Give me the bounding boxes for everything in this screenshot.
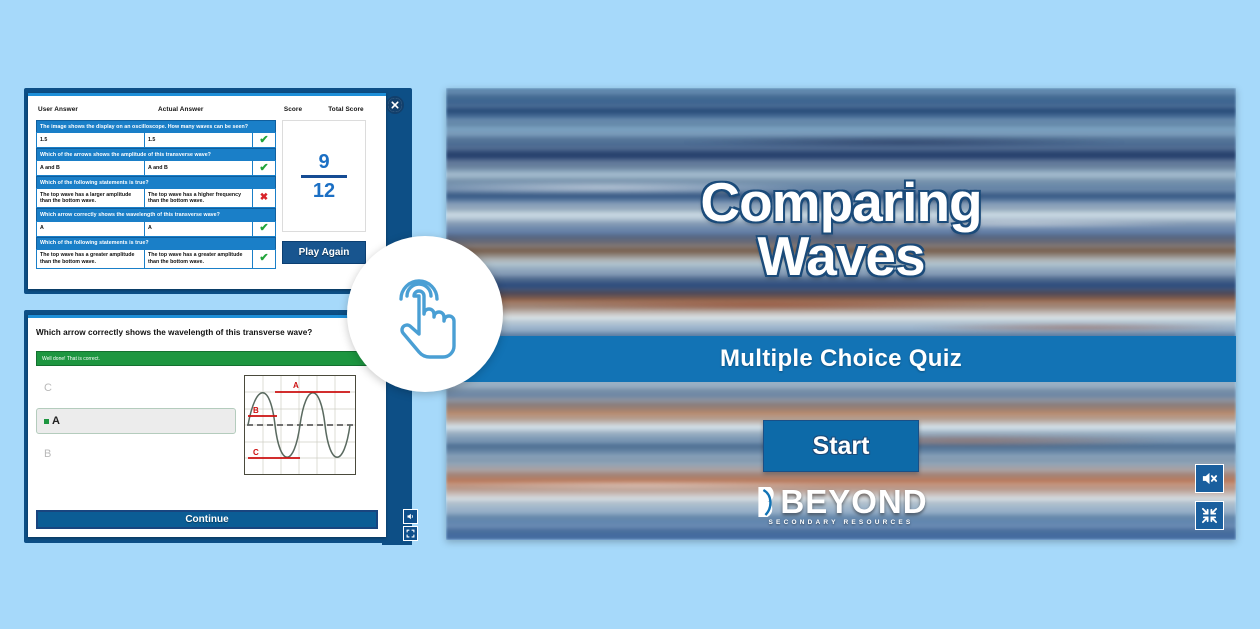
table-row: 1.51.5✔	[36, 132, 276, 148]
cell-actual-answer: The top wave has a greater amplitude tha…	[145, 250, 253, 268]
continue-button[interactable]: Continue	[36, 510, 378, 529]
cell-actual-answer: The top wave has a higher frequency than…	[145, 189, 253, 207]
play-again-button[interactable]: Play Again	[282, 241, 366, 264]
quiz-title-screen: Comparing Waves Multiple Choice Quiz Sta…	[446, 88, 1236, 540]
incorrect-mark-icon: ✖	[253, 189, 275, 207]
table-row: AA✔	[36, 221, 276, 237]
tap-hand-icon	[347, 236, 503, 392]
transverse-wave-diagram: A B C	[244, 375, 356, 475]
header-user-answer: User Answer	[36, 106, 158, 113]
svg-text:A: A	[293, 381, 299, 390]
results-question-row: Which of the following statements is tru…	[36, 176, 276, 188]
table-row: A and BA and B✔	[36, 160, 276, 176]
results-question-row: Which arrow correctly shows the waveleng…	[36, 208, 276, 220]
subtitle-bar: Multiple Choice Quiz	[446, 336, 1236, 382]
answer-option-b[interactable]: B	[36, 441, 236, 467]
quiz-panel-body: Which arrow correctly shows the waveleng…	[28, 315, 386, 537]
score-numerator: 9	[318, 152, 329, 172]
header-actual-answer: Actual Answer	[158, 106, 270, 113]
logo-name: BEYOND	[780, 483, 927, 521]
correct-mark-icon: ✔	[253, 133, 275, 147]
subtitle-text: Multiple Choice Quiz	[720, 345, 962, 373]
logo-tagline: SECONDARY RESOURCES	[769, 519, 914, 526]
expand-icon[interactable]	[403, 526, 418, 541]
cell-actual-answer: A and B	[145, 161, 253, 175]
header-total-score: Total Score	[316, 106, 376, 113]
fullscreen-collapse-icon[interactable]	[1195, 501, 1224, 530]
results-question-row: Which of the arrows shows the amplitude …	[36, 148, 276, 160]
table-row: The top wave has a larger amplitude than…	[36, 188, 276, 208]
score-divider	[301, 175, 347, 178]
title-line-2: Waves	[446, 230, 1236, 284]
speaker-icon[interactable]	[403, 509, 418, 524]
cell-user-answer: A	[37, 222, 145, 236]
answer-option-label: C	[44, 382, 52, 394]
quiz-panel-controls	[403, 509, 418, 541]
results-question-row: Which of the following statements is tru…	[36, 237, 276, 249]
results-panel: User Answer Actual Answer Score Total Sc…	[24, 88, 412, 294]
answer-option-a[interactable]: A	[36, 408, 236, 434]
results-table-header: User Answer Actual Answer Score Total Sc…	[36, 102, 378, 120]
answer-options: CAB	[36, 375, 236, 475]
cell-user-answer: The top wave has a greater amplitude tha…	[37, 250, 145, 268]
answer-option-label: B	[44, 448, 51, 460]
page-title: Comparing Waves	[446, 176, 1236, 284]
title-line-1: Comparing	[446, 176, 1236, 230]
results-question-row: The image shows the display on an oscill…	[36, 120, 276, 132]
mute-icon[interactable]	[1195, 464, 1224, 493]
results-panel-body: User Answer Actual Answer Score Total Sc…	[28, 93, 386, 289]
svg-text:C: C	[253, 448, 259, 457]
answer-option-c[interactable]: C	[36, 375, 236, 401]
answer-option-label: A	[52, 415, 60, 427]
water-ripples-overlay	[446, 88, 1236, 540]
player-controls	[1195, 464, 1224, 530]
feedback-text: Well done! That is correct.	[42, 356, 100, 362]
logo-wordmark: BEYOND	[754, 483, 927, 521]
beyond-logo: BEYOND SECONDARY RESOURCES	[754, 483, 927, 526]
cell-actual-answer: 1.5	[145, 133, 253, 147]
correct-mark-icon: ✔	[253, 222, 275, 236]
cell-user-answer: A and B	[37, 161, 145, 175]
start-button-label: Start	[813, 432, 870, 461]
selected-marker-icon	[44, 419, 49, 424]
results-table: The image shows the display on an oscill…	[36, 120, 276, 269]
svg-text:B: B	[253, 406, 259, 415]
score-denominator: 12	[313, 181, 335, 201]
header-score: Score	[270, 106, 316, 113]
close-icon[interactable]	[386, 96, 404, 114]
cell-user-answer: 1.5	[37, 133, 145, 147]
feedback-banner: Well done! That is correct.	[36, 351, 378, 366]
total-score-column: 9 12 Play Again	[282, 120, 368, 269]
cell-actual-answer: A	[145, 222, 253, 236]
score-box: 9 12	[282, 120, 366, 232]
cell-user-answer: The top wave has a larger amplitude than…	[37, 189, 145, 207]
start-button[interactable]: Start	[763, 420, 919, 472]
table-row: The top wave has a greater amplitude tha…	[36, 249, 276, 269]
correct-mark-icon: ✔	[253, 161, 275, 175]
quiz-question: Which arrow correctly shows the waveleng…	[36, 328, 378, 337]
correct-mark-icon: ✔	[253, 250, 275, 268]
